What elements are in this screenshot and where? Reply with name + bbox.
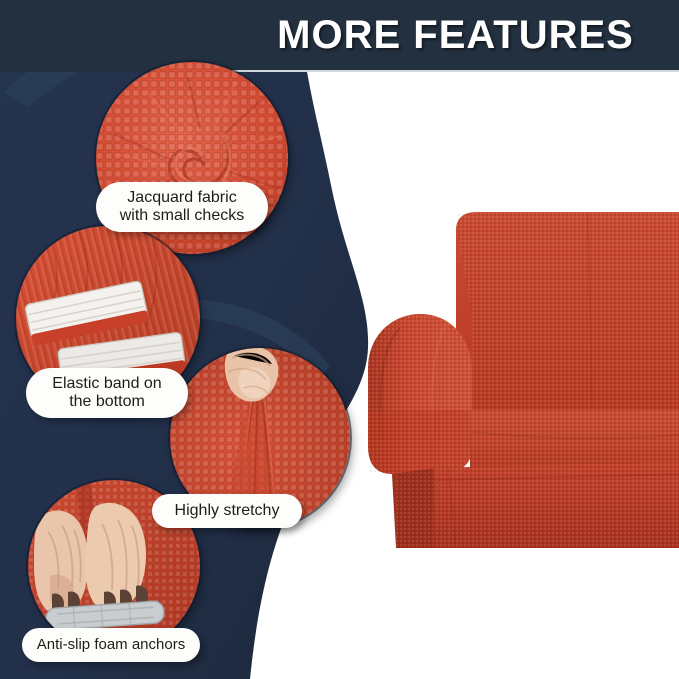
feature-label-line1: Jacquard fabric <box>120 189 244 207</box>
feature-label-foam-anchors: Anti-slip foam anchors <box>22 628 200 662</box>
feature-label-elastic-band: Elastic band on the bottom <box>26 368 188 418</box>
feature-label-jacquard: Jacquard fabric with small checks <box>96 182 268 232</box>
feature-label-line1: Anti-slip foam anchors <box>37 637 185 654</box>
header-underline <box>232 70 679 72</box>
page-title: MORE FEATURES <box>232 0 679 70</box>
feature-label-highly-stretchy: Highly stretchy <box>152 494 302 528</box>
feature-label-line2: the bottom <box>52 393 161 411</box>
infographic-canvas: Jacquard fabric with small checks <box>0 0 679 679</box>
feature-label-line1: Highly stretchy <box>175 502 280 520</box>
sofa-slipcover-photo <box>352 196 679 560</box>
feature-label-line1: Elastic band on <box>52 375 161 393</box>
feature-label-line2: with small checks <box>120 207 244 225</box>
